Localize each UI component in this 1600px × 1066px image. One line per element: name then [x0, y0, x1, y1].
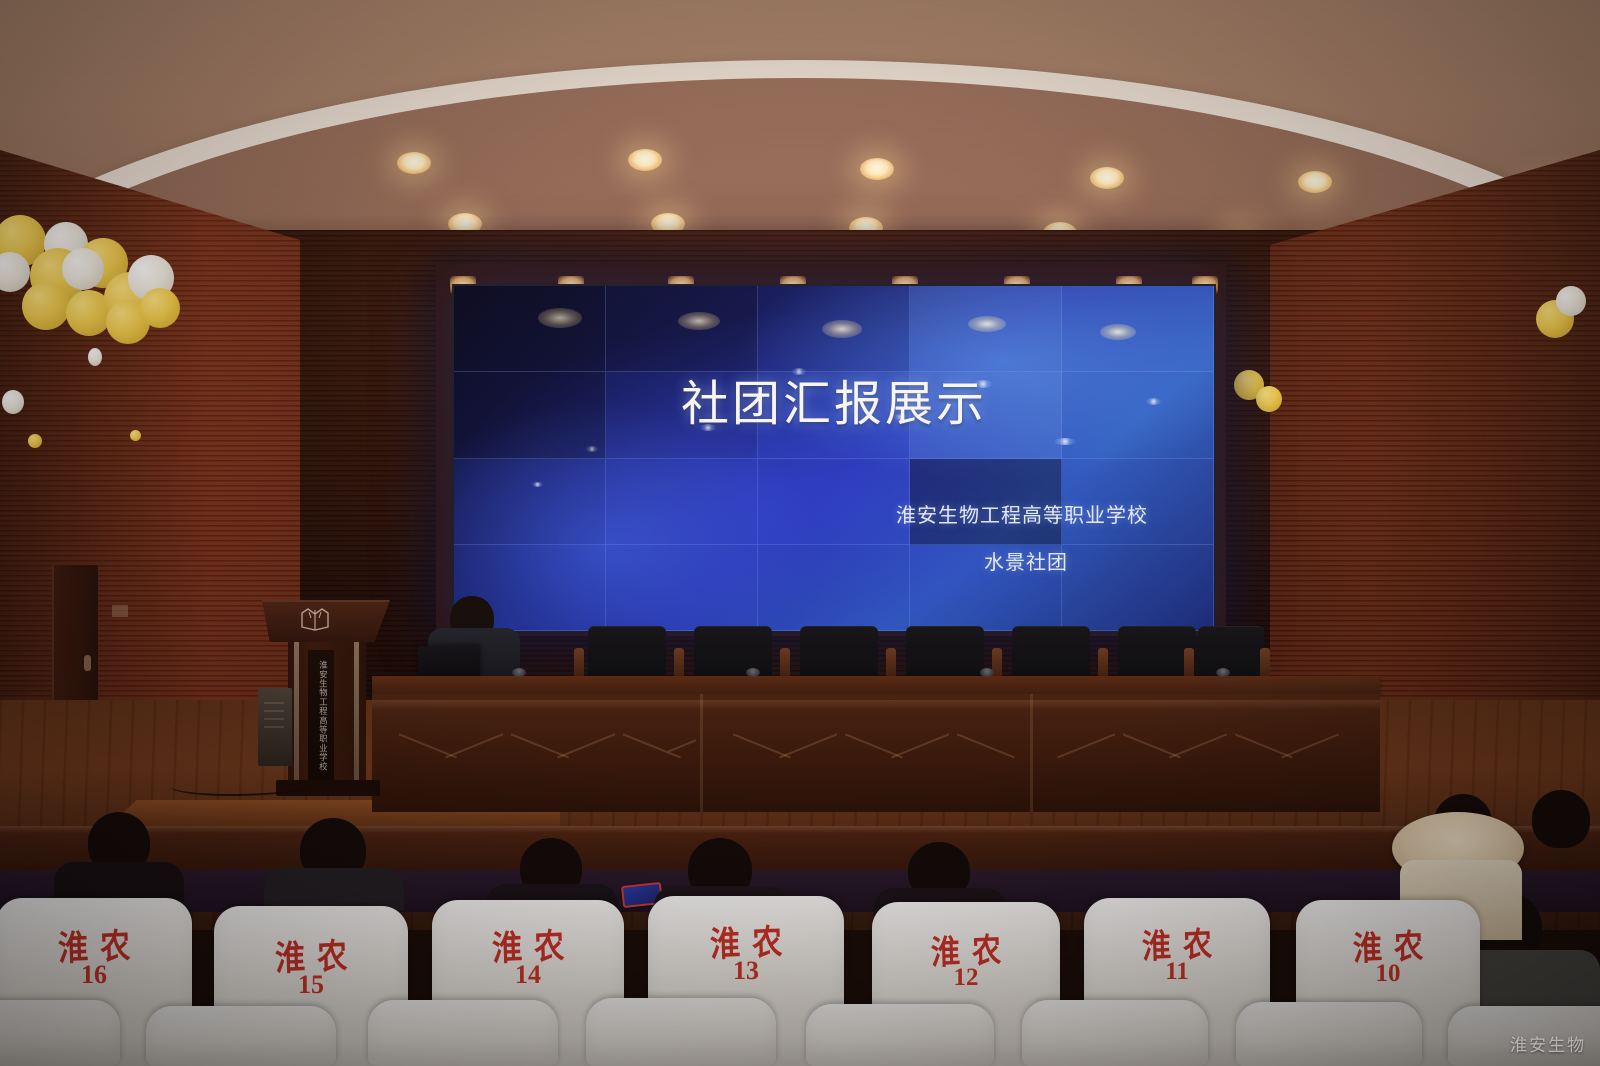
conference-table-top: [372, 676, 1380, 694]
door-handle[interactable]: [84, 655, 91, 671]
presentation-club-name: 水景社团: [984, 546, 1068, 575]
conference-table-rail: [372, 700, 1380, 710]
seat-number: 12: [872, 964, 1060, 992]
audience-seat-partial[interactable]: [368, 1000, 558, 1066]
seat-number: 16: [0, 960, 192, 990]
screen-panel-bezels: [454, 286, 1214, 631]
led-video-wall[interactable]: 社团汇报展示 淮安生物工程高等职业学校 水景社团: [452, 284, 1216, 633]
school-emblem-icon: [300, 604, 330, 632]
audience-seat-partial[interactable]: [146, 1006, 336, 1066]
audience-seat-partial[interactable]: [586, 998, 776, 1066]
presentation-school-name: 淮安生物工程高等职业学校: [896, 499, 1148, 528]
podium-plate-text: 淮安生物工程高等职业学校: [316, 661, 326, 771]
wall-switch-plate[interactable]: [112, 605, 128, 617]
seat-number: 15: [214, 970, 408, 1000]
floor-speaker: [258, 688, 292, 766]
auditorium-scene: 社团汇报展示 淮安生物工程高等职业学校 水景社团: [0, 0, 1600, 1066]
podium-name-plate: 淮安生物工程高等职业学校: [308, 650, 334, 782]
seat-number: 14: [432, 960, 624, 990]
audience-desk-lip: [0, 826, 1600, 833]
seat-number: 11: [1084, 958, 1270, 986]
presentation-title: 社团汇报展示: [454, 364, 1214, 434]
audience-seat-partial[interactable]: [806, 1004, 994, 1066]
audience-seat-partial-left[interactable]: [0, 1000, 120, 1066]
table-panel-seam: [1030, 694, 1033, 812]
audience-seat-partial[interactable]: [1022, 1000, 1208, 1066]
seat-number: 13: [648, 956, 844, 986]
seat-number: 10: [1296, 960, 1480, 988]
audience-seat-partial[interactable]: [1236, 1002, 1422, 1066]
image-watermark: 淮安生物: [1510, 1031, 1586, 1056]
